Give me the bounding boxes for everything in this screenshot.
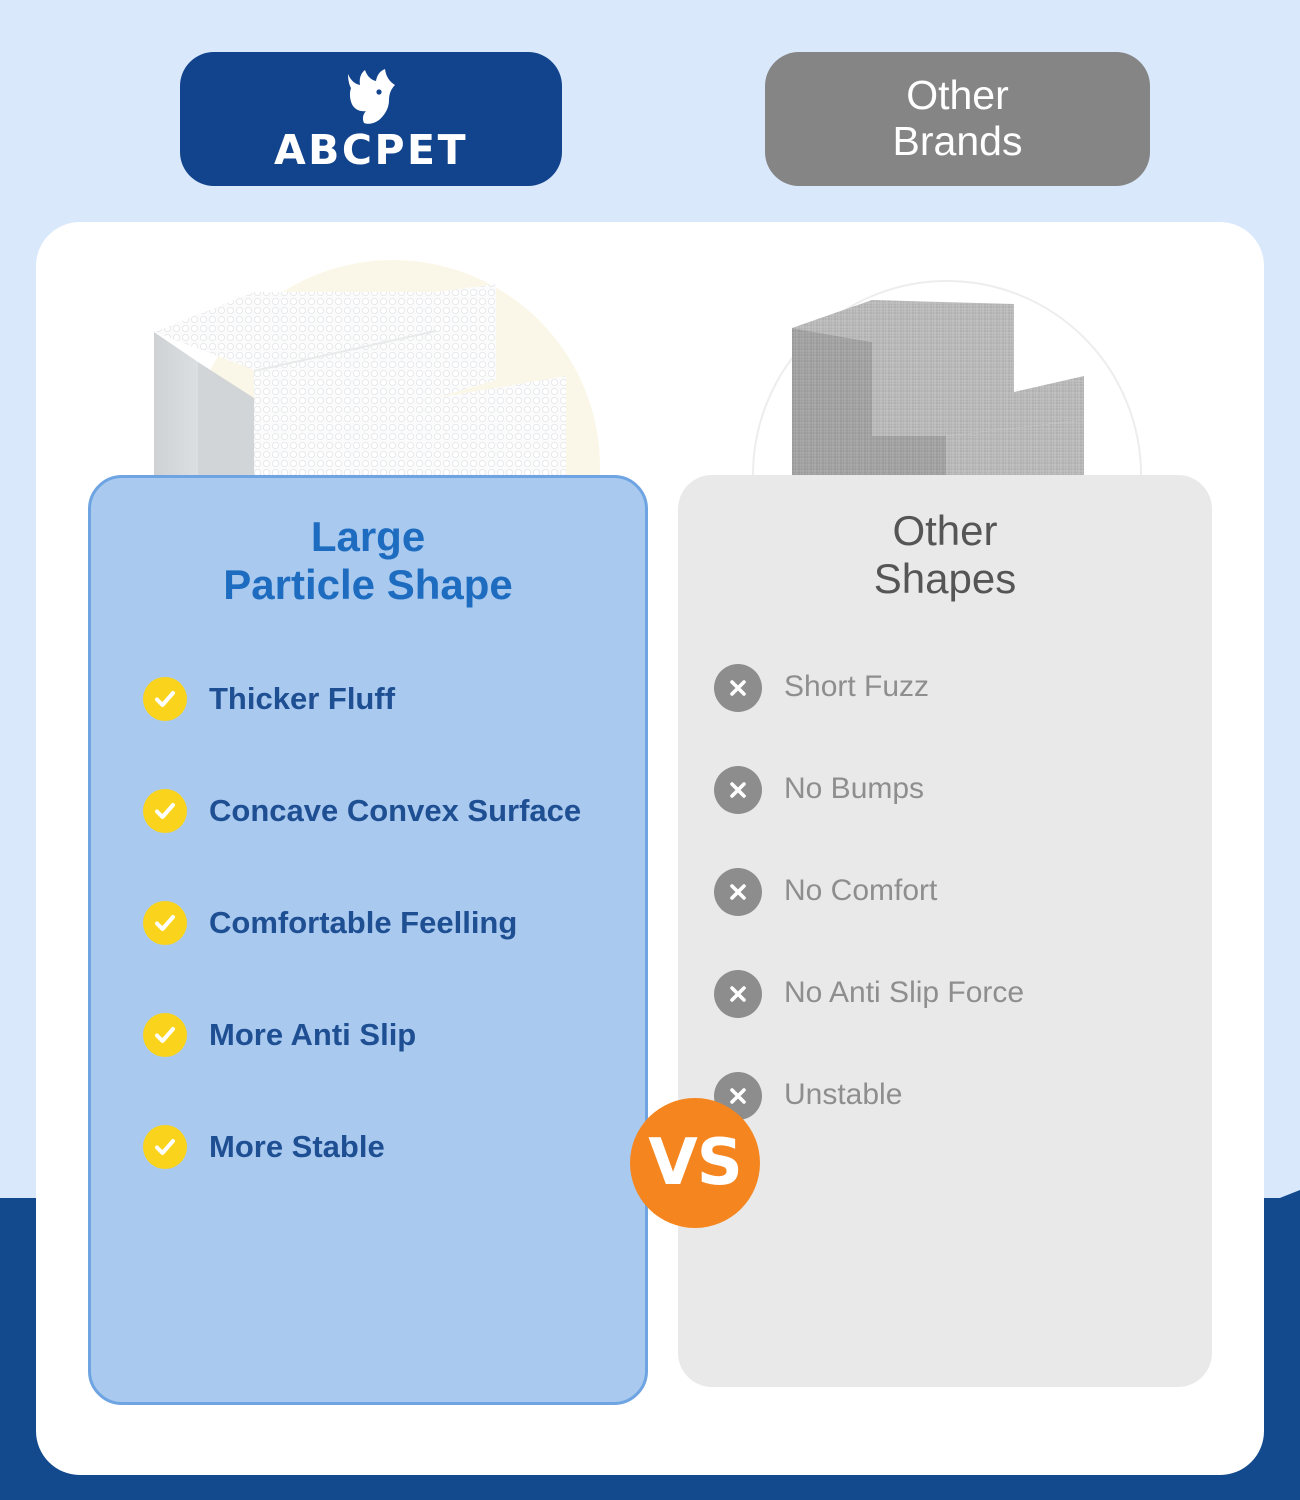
list-item: Short Fuzz: [678, 637, 1212, 739]
feature-label: Thicker Fluff: [209, 681, 395, 717]
list-item: Concave Convex Surface: [91, 755, 645, 867]
feature-label: Concave Convex Surface: [209, 793, 581, 829]
list-item: More Anti Slip: [91, 979, 645, 1091]
navy-right-edge: [1262, 0, 1300, 1500]
our-product-title: Large Particle Shape: [91, 513, 645, 609]
dog-head-icon: [335, 68, 407, 130]
other-brands-line2: Brands: [893, 119, 1023, 165]
cross-icon: [714, 970, 762, 1018]
panel-other-brands: Other Shapes Short Fuzz No Bumps: [678, 475, 1212, 1387]
panel-our-product: Large Particle Shape Thicker Fluff Conca…: [88, 475, 648, 1405]
infographic-page: ABCPET Other Brands: [0, 0, 1300, 1500]
list-item: Unstable: [678, 1045, 1212, 1147]
comparison-card: VS Large Particle Shape Thicker Fluff: [36, 222, 1264, 1475]
our-feature-list: Thicker Fluff Concave Convex Surface Com…: [91, 643, 645, 1203]
feature-label: Unstable: [784, 1078, 902, 1113]
brand-badge: ABCPET: [180, 52, 562, 186]
list-item: No Comfort: [678, 841, 1212, 943]
vs-badge: VS: [630, 1098, 760, 1228]
feature-label: No Comfort: [784, 874, 937, 909]
check-icon: [143, 789, 187, 833]
check-icon: [143, 901, 187, 945]
list-item: Comfortable Feelling: [91, 867, 645, 979]
other-brands-badge: Other Brands: [765, 52, 1150, 186]
header-badges: ABCPET Other Brands: [0, 52, 1300, 186]
list-item: No Bumps: [678, 739, 1212, 841]
other-feature-list: Short Fuzz No Bumps No Comfort: [678, 637, 1212, 1147]
cross-icon: [714, 868, 762, 916]
cross-icon: [714, 664, 762, 712]
feature-label: More Anti Slip: [209, 1017, 416, 1053]
feature-label: Comfortable Feelling: [209, 905, 517, 941]
check-icon: [143, 677, 187, 721]
our-title-line1: Large: [91, 513, 645, 561]
check-icon: [143, 1013, 187, 1057]
feature-label: No Bumps: [784, 772, 924, 807]
brand-wordmark: ABCPET: [274, 130, 468, 171]
vs-label: VS: [648, 1126, 742, 1200]
feature-label: Short Fuzz: [784, 670, 929, 705]
feature-label: More Stable: [209, 1129, 385, 1165]
feature-label: No Anti Slip Force: [784, 976, 1024, 1011]
other-title-line1: Other: [678, 507, 1212, 555]
cross-icon: [714, 766, 762, 814]
list-item: No Anti Slip Force: [678, 943, 1212, 1045]
other-title-line2: Shapes: [678, 555, 1212, 603]
check-icon: [143, 1125, 187, 1169]
other-shapes-title: Other Shapes: [678, 507, 1212, 603]
other-brands-line1: Other: [906, 73, 1009, 119]
list-item: Thicker Fluff: [91, 643, 645, 755]
our-title-line2: Particle Shape: [91, 561, 645, 609]
list-item: More Stable: [91, 1091, 645, 1203]
